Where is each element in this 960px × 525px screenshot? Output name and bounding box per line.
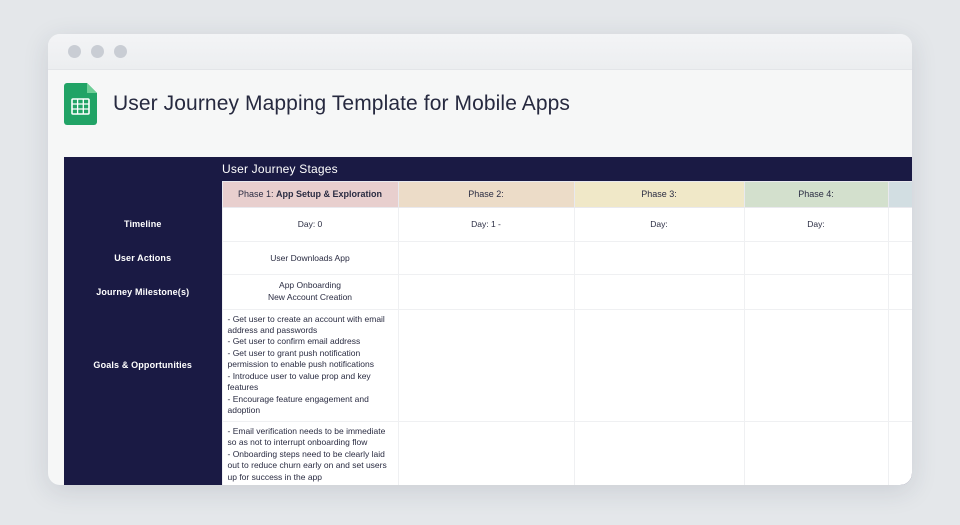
table-row: Timeline Day: 0 Day: 1 - Day: Day: (64, 207, 912, 241)
cell-goals-p1[interactable]: - Get user to create an account with ema… (222, 309, 398, 421)
minimize-dot[interactable] (91, 45, 104, 58)
cell-actions-p5[interactable] (888, 241, 912, 274)
cell-pain-p1[interactable]: - Email verification needs to be immedia… (222, 421, 398, 485)
table-row: User Actions User Downloads App (64, 241, 912, 274)
window-titlebar (48, 34, 912, 70)
browser-window: User Journey Mapping Template for Mobile… (48, 34, 912, 485)
page-title: User Journey Mapping Template for Mobile… (113, 92, 570, 116)
cell-actions-p1[interactable]: User Downloads App (222, 241, 398, 274)
stages-banner-title: User Journey Stages (222, 157, 912, 181)
cell-pain-p4[interactable] (744, 421, 888, 485)
google-sheets-icon (64, 83, 97, 125)
banner-spacer (64, 157, 222, 181)
cell-milestone-p1[interactable]: App OnboardingNew Account Creation (222, 274, 398, 309)
journey-table: User Journey Stages Phase 1: App Setup &… (64, 157, 912, 485)
phase-header-row: Phase 1: App Setup & Exploration Phase 2… (64, 181, 912, 207)
cell-goals-p3[interactable] (574, 309, 744, 421)
cell-pain-p5[interactable] (888, 421, 912, 485)
cell-pain-p2[interactable] (398, 421, 574, 485)
phase-header-1[interactable]: Phase 1: App Setup & Exploration (222, 181, 398, 207)
table-row: Potential Pain Points - Email verificati… (64, 421, 912, 485)
cell-actions-p2[interactable] (398, 241, 574, 274)
maximize-dot[interactable] (114, 45, 127, 58)
cell-milestone-p3[interactable] (574, 274, 744, 309)
cell-milestone-p4[interactable] (744, 274, 888, 309)
stages-banner-row: User Journey Stages (64, 157, 912, 181)
document-header: User Journey Mapping Template for Mobile… (48, 70, 912, 138)
table-row: Journey Milestone(s) App OnboardingNew A… (64, 274, 912, 309)
table-row: Goals & Opportunities - Get user to crea… (64, 309, 912, 421)
row-label-potential-pain-points: Potential Pain Points (64, 421, 222, 485)
row-label-goals-opportunities: Goals & Opportunities (64, 309, 222, 421)
close-dot[interactable] (68, 45, 81, 58)
row-label-timeline: Timeline (64, 207, 222, 241)
cell-timeline-p2[interactable]: Day: 1 - (398, 207, 574, 241)
cell-actions-p3[interactable] (574, 241, 744, 274)
phase-1-prefix: Phase 1: (238, 189, 276, 199)
cell-milestone-p5[interactable] (888, 274, 912, 309)
cell-goals-p5[interactable] (888, 309, 912, 421)
phase-row-corner (64, 181, 222, 207)
cell-timeline-p3[interactable]: Day: (574, 207, 744, 241)
cell-goals-p2[interactable] (398, 309, 574, 421)
cell-timeline-p5[interactable] (888, 207, 912, 241)
cell-goals-p4[interactable] (744, 309, 888, 421)
spreadsheet-grid[interactable]: User Journey Stages Phase 1: App Setup &… (64, 157, 912, 485)
cell-pain-p3[interactable] (574, 421, 744, 485)
cell-timeline-p4[interactable]: Day: (744, 207, 888, 241)
phase-header-2[interactable]: Phase 2: (398, 181, 574, 207)
phase-1-name: App Setup & Exploration (276, 189, 382, 199)
phase-header-4[interactable]: Phase 4: (744, 181, 888, 207)
phase-header-5[interactable] (888, 181, 912, 207)
cell-timeline-p1[interactable]: Day: 0 (222, 207, 398, 241)
row-label-journey-milestones: Journey Milestone(s) (64, 274, 222, 309)
cell-actions-p4[interactable] (744, 241, 888, 274)
phase-header-3[interactable]: Phase 3: (574, 181, 744, 207)
cell-milestone-p2[interactable] (398, 274, 574, 309)
row-label-user-actions: User Actions (64, 241, 222, 274)
